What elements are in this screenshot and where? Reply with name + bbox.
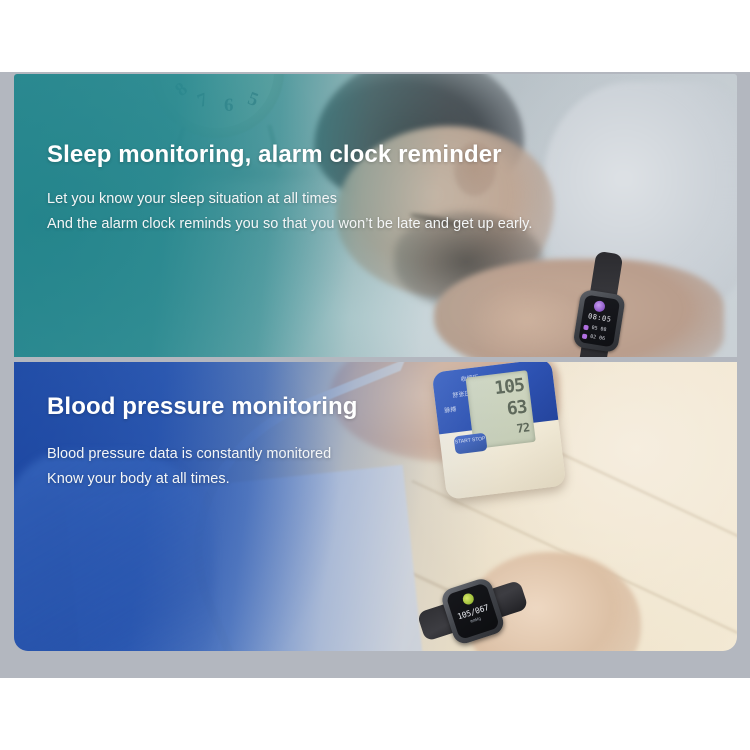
stat-dot-icon bbox=[582, 333, 588, 339]
sleep-headline: Sleep monitoring, alarm clock reminder bbox=[47, 140, 532, 170]
stat-dot-icon bbox=[583, 324, 589, 330]
panel-sleep-monitoring[interactable]: 8 7 6 5 bbox=[14, 74, 737, 357]
blood-pressure-subline-2: Know your body at all times. bbox=[47, 467, 358, 492]
feature-panel-stack: 8 7 6 5 bbox=[14, 74, 737, 651]
blood-pressure-copy-block: Blood pressure monitoring Blood pressure… bbox=[47, 392, 358, 492]
sleep-copy-block: Sleep monitoring, alarm clock reminder L… bbox=[47, 140, 532, 237]
sleep-subline-2: And the alarm clock reminds you so that … bbox=[47, 212, 532, 237]
blood-pressure-subline-1: Blood pressure data is constantly monito… bbox=[47, 442, 358, 467]
panel-blood-pressure-monitoring[interactable]: 脉搏 舒张压 收缩压 105 63 72 START STOP bbox=[14, 362, 737, 651]
blood-pressure-subline-group: Blood pressure data is constantly monito… bbox=[47, 442, 358, 492]
blood-pressure-headline: Blood pressure monitoring bbox=[47, 392, 358, 422]
page-root: 8 7 6 5 bbox=[0, 0, 750, 750]
sleep-subline-group: Let you know your sleep situation at all… bbox=[47, 187, 532, 237]
sleep-subline-1: Let you know your sleep situation at all… bbox=[47, 187, 532, 212]
